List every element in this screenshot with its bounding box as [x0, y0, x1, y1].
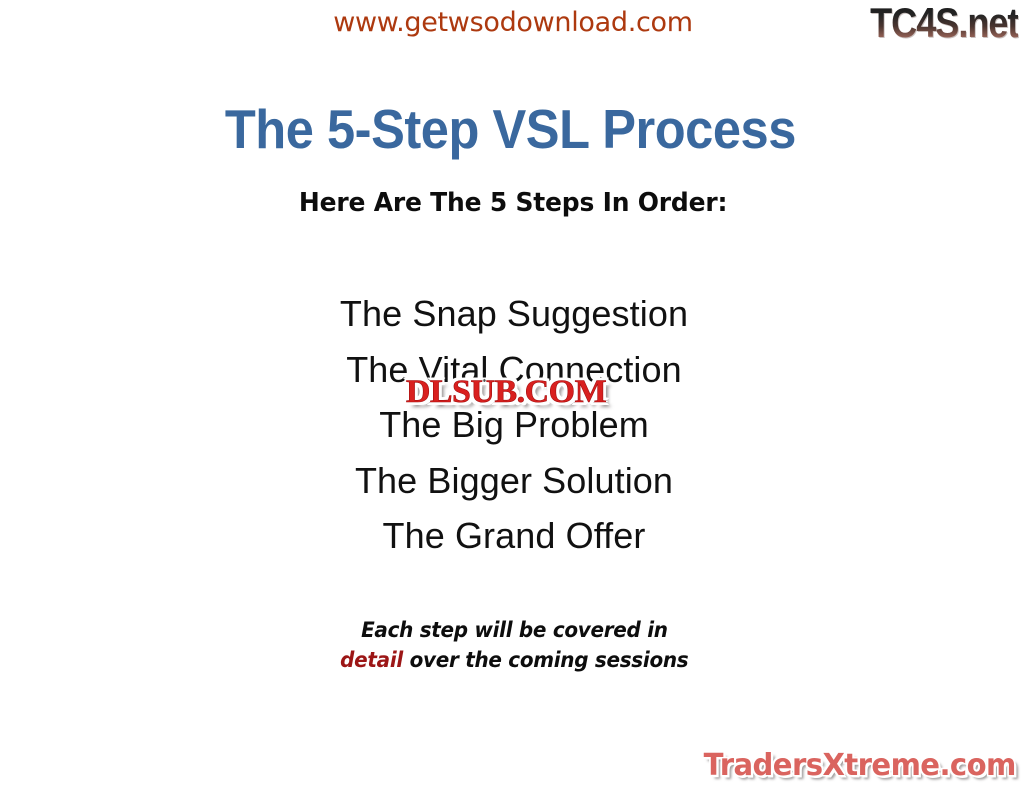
footnote-highlight-word: detail — [340, 648, 403, 672]
list-item: The Snap Suggestion — [2, 286, 1024, 342]
footnote: Each step will be covered in detail over… — [0, 615, 1024, 675]
footnote-line-2-rest: over the coming sessions — [403, 648, 688, 672]
footnote-line-2: detail over the coming sessions — [2, 645, 1024, 675]
page-subtitle-text: Here Are The 5 Steps In Order: — [299, 188, 727, 218]
dlsub-watermark: DLSUB.COM — [359, 376, 654, 409]
footnote-line-1: Each step will be covered in — [2, 615, 1024, 645]
list-item: The Bigger Solution — [2, 453, 1024, 509]
page-title: The 5-Step VSL Process — [0, 97, 1022, 161]
page-subtitle: Here Are The 5 Steps In Order: — [1, 188, 1024, 218]
steps-list: The Snap Suggestion The Vital Connection… — [0, 286, 1024, 564]
page-title-text: The 5-Step VSL Process — [224, 97, 795, 161]
presentation-slide: www.getwsodownload.com TC4S.net The 5-St… — [0, 0, 1024, 791]
list-item: The Grand Offer — [2, 508, 1024, 564]
footnote-line-2-inner: detail over the coming sessions — [340, 645, 688, 675]
tradersxtreme-brand-logo: TradersXtreme.com — [704, 749, 1016, 783]
footnote-line-1-text: Each step will be covered in — [361, 615, 668, 645]
tc4s-brand-logo: TC4S.net — [870, 2, 1018, 44]
